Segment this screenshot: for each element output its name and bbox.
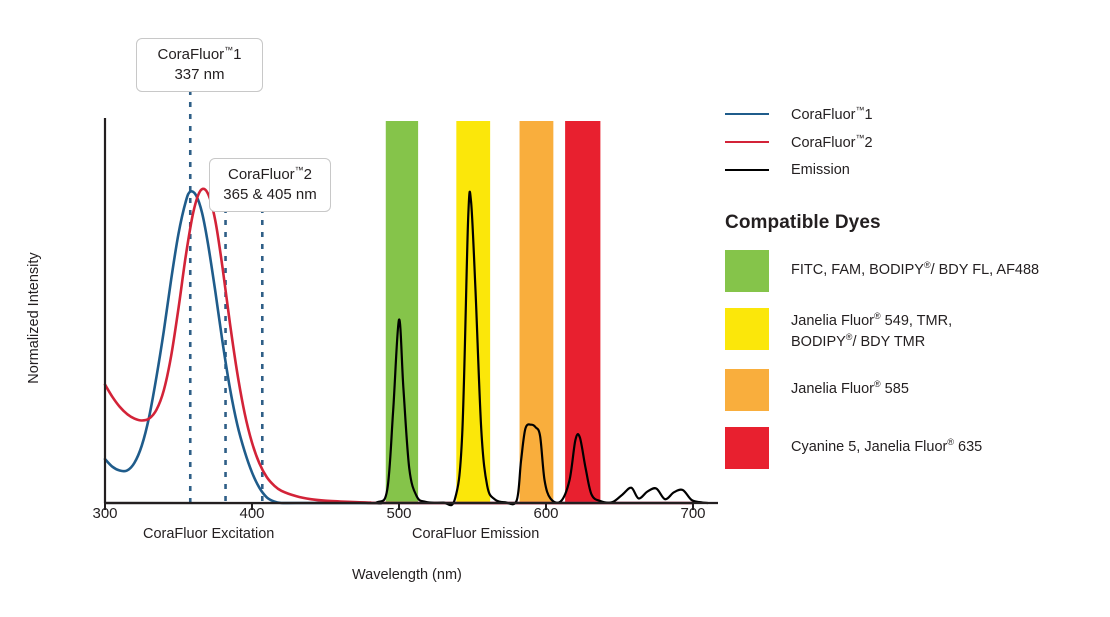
x-tick-label-500: 500 [369, 505, 429, 522]
emission-region-label: CoraFluor Emission [412, 526, 539, 542]
dye-label-line: Janelia Fluor® 585 [791, 378, 909, 399]
callout-corafluor2-line2: 365 & 405 nm [220, 185, 320, 205]
callout-corafluor1: CoraFluor™1 337 nm [136, 38, 263, 92]
dye-row-3[interactable]: Cyanine 5, Janelia Fluor® 635 [725, 427, 1110, 469]
dye-label-line: FITC, FAM, BODIPY®/ BDY FL, AF488 [791, 259, 1039, 280]
dye-color-swatch [725, 427, 769, 469]
x-tick-label-300: 300 [75, 505, 135, 522]
plot-area: 300400500600700 Normalized Intensity Wav… [0, 0, 730, 612]
dye-label-line: Cyanine 5, Janelia Fluor® 635 [791, 436, 982, 457]
compatible-dyes-list: FITC, FAM, BODIPY®/ BDY FL, AF488Janelia… [725, 250, 1110, 469]
dye-color-swatch [725, 250, 769, 292]
dye-color-swatch [725, 369, 769, 411]
dye-label: Cyanine 5, Janelia Fluor® 635 [791, 427, 982, 457]
legend-line-swatch [725, 113, 769, 115]
dye-label-line: Janelia Fluor® 549, TMR, [791, 310, 952, 331]
legend-panel: CoraFluor™1CoraFluor™2Emission Compatibl… [725, 100, 1110, 485]
legend-series-label: CoraFluor™2 [791, 133, 873, 151]
x-tick-label-600: 600 [516, 505, 576, 522]
legend-series-label: Emission [791, 162, 850, 178]
dye-label: FITC, FAM, BODIPY®/ BDY FL, AF488 [791, 250, 1039, 280]
callout-corafluor1-line1: CoraFluor™1 [147, 45, 252, 65]
callout-corafluor2: CoraFluor™2 365 & 405 nm [209, 158, 331, 212]
x-axis-title: Wavelength (nm) [352, 567, 462, 583]
wavelength-bands [386, 121, 601, 503]
legend-line-swatch [725, 141, 769, 143]
legend-line-swatch [725, 169, 769, 171]
series-legend: CoraFluor™1CoraFluor™2Emission [725, 100, 1110, 184]
x-tick-label-400: 400 [222, 505, 282, 522]
compatible-dyes-heading: Compatible Dyes [725, 212, 1110, 234]
legend-row-0[interactable]: CoraFluor™1 [725, 100, 1110, 128]
dye-row-0[interactable]: FITC, FAM, BODIPY®/ BDY FL, AF488 [725, 250, 1110, 292]
dye-label-line: BODIPY®/ BDY TMR [791, 331, 952, 352]
fluorescence-spectra-figure: 300400500600700 Normalized Intensity Wav… [0, 0, 1110, 612]
dye-row-1[interactable]: Janelia Fluor® 549, TMR,BODIPY®/ BDY TMR [725, 308, 1110, 353]
dye-label: Janelia Fluor® 585 [791, 369, 909, 399]
dye-label: Janelia Fluor® 549, TMR,BODIPY®/ BDY TMR [791, 308, 952, 353]
legend-row-1[interactable]: CoraFluor™2 [725, 128, 1110, 156]
x-tick-label-700: 700 [663, 505, 723, 522]
excitation-region-label: CoraFluor Excitation [143, 526, 274, 542]
y-axis-title: Normalized Intensity [26, 238, 42, 398]
orange-band [520, 121, 554, 503]
legend-series-label: CoraFluor™1 [791, 105, 873, 123]
callout-corafluor1-line2: 337 nm [147, 65, 252, 85]
legend-row-2[interactable]: Emission [725, 156, 1110, 184]
callout-corafluor2-line1: CoraFluor™2 [220, 165, 320, 185]
dye-color-swatch [725, 308, 769, 350]
dye-row-2[interactable]: Janelia Fluor® 585 [725, 369, 1110, 411]
